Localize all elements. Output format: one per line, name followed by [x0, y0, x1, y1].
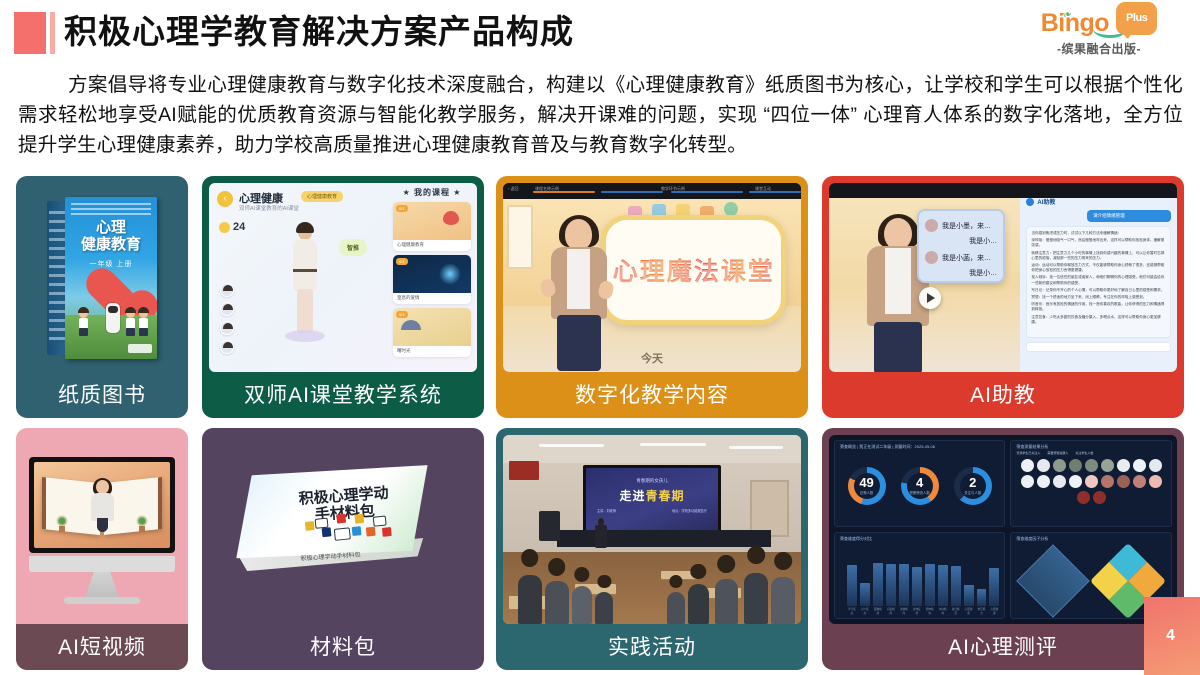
avatar[interactable] [220, 302, 234, 316]
answer-line: 冥想：找一个舒适的地方坐下来，闭上眼睛，专注在你的呼吸上感受到。 [1031, 295, 1166, 300]
book-cover-grade: 一年级 上册 [65, 259, 157, 269]
progress-tag: 0/1 [396, 258, 408, 265]
student-figure [667, 592, 685, 624]
monitor-stand [85, 572, 119, 598]
stage-platform [557, 530, 772, 547]
answer-line: 转移注意力：把注意力几个小时的事情上找到你感兴趣的事情上，可以让你暂时忘掉心里的… [1031, 251, 1166, 261]
student-dot [1053, 459, 1066, 472]
book-cover-title: 心理健康教育 [65, 219, 157, 253]
board-text: 心理魔法课堂 [613, 252, 775, 288]
classroom-photo: 青春期的女孩儿 走进青春期 主讲：刘老师 地点：学校多功能报告厅 [503, 435, 801, 624]
kpi-ring: 4 预警筛查人数 [901, 467, 939, 505]
page-number-corner: 4 [1144, 597, 1200, 675]
student-figure [771, 577, 795, 624]
card-digital-teaching-content[interactable]: ‹ 返回 课程名称示例 教学环节示例 课堂互动 [496, 176, 808, 418]
card-label-ai-assistant: AI助教 [822, 372, 1184, 418]
legend-item: 需要预警提醒人 [1047, 451, 1068, 455]
card-practice-media: 青春期的女孩儿 走进青春期 主讲：刘老师 地点：学校多功能报告厅 [503, 435, 801, 624]
avatar[interactable] [220, 340, 234, 354]
card-ai-short-video[interactable]: AI短视频 [16, 428, 188, 670]
plant-icon [136, 516, 148, 532]
classroom-ceiling [503, 435, 801, 463]
card-ai-assessment[interactable]: 筛查概览 | 我正在测试二年级 | 测量时间：2025-05-06 49 总筛人… [822, 428, 1184, 670]
card-label-short-video: AI短视频 [16, 624, 188, 670]
legend-item: 普通学生已关注人 [1016, 451, 1040, 455]
monitor-chin [29, 556, 175, 572]
monitor [29, 457, 175, 553]
book-cover-topline [71, 203, 151, 216]
screen-subtitle: 青春期的女孩儿 [586, 478, 717, 484]
video-toolbar: ‹ 返回 课程名称示例 教学环节示例 课堂互动 [503, 183, 801, 199]
card-label-assessment: AI心理测评 [822, 624, 1184, 670]
slide-dialogue-panel: 我是小墨，来… 我是小… 我是小菡，来… 我是小… [917, 209, 1005, 283]
my-courses-title: ★ 我的课程 ★ [393, 187, 471, 198]
card-label-digital-content: 数字化教学内容 [496, 372, 808, 418]
legend: 普通学生已关注人 需要预警提醒人 关注学生人数 [1016, 451, 1093, 455]
student-figure [545, 581, 569, 624]
answer-line: 深呼吸：慢慢地吸气一口气，然后慢慢地呼出来，这样可以帮助你放松身体，缓解紧张感。 [1031, 238, 1166, 248]
card-short-video-media [23, 435, 181, 624]
assistant-video-pane: 我是小墨，来… 我是小… 我是小菡，来… 我是小… [829, 183, 1020, 372]
panel-title: 筛查维度因子分析 [1016, 536, 1048, 542]
my-courses-panel: ★ 我的课程 ★ 0/1 心理健康教育 0/1 窒息的爱情 0/ [393, 187, 471, 368]
student-dot [1037, 459, 1050, 472]
avatar-3d-figure [283, 225, 327, 345]
student-dot [1085, 459, 1098, 472]
dialogue-line: 我是小… [969, 268, 997, 278]
answer-line: 注意饮食：少吃太多甜的饮食及糖分摄入，多喝点水，这样可以帮助你身心更加健康。 [1031, 315, 1166, 325]
student-figure [595, 592, 613, 624]
screen-credits: 主讲：刘老师 地点：学校多功能报告厅 [597, 508, 707, 513]
dialogue-line: 我是小… [969, 236, 997, 246]
x-axis-labels: 学习焦虑 对人焦虑 孤独倾向 自责倾向 过敏倾向 身体症状 恐怖倾向 冲动倾向 … [847, 607, 999, 615]
chat-answer: 当你感到焦虑或压力时，试试以下几种方法来缓解情绪： 深呼吸：慢慢地吸气一口气，然… [1026, 226, 1171, 338]
publisher-badge [128, 344, 152, 353]
student-dot [1021, 475, 1034, 488]
course-caption: 曙时光 [393, 346, 471, 357]
answer-line: 当你感到焦虑或压力时，试试以下几种方法来缓解情绪： [1031, 231, 1166, 236]
brand-badge: Plus [1116, 2, 1157, 35]
kpi-value: 49 [859, 476, 873, 489]
dialogue-line: 我是小菡，来… [942, 253, 991, 263]
product-card-grid: 心理健康教育 一年级 上册 纸质图书 [0, 172, 1200, 672]
kpi-ring: 2 关注与人数 [954, 467, 992, 505]
student-dot [1093, 491, 1106, 504]
child-figure [138, 309, 149, 339]
coin-value: 24 [233, 221, 245, 233]
card-label-practice: 实践活动 [496, 624, 808, 670]
video-frame [34, 462, 170, 548]
video-stage: 心理魔法课堂 今天 [503, 199, 801, 372]
play-icon[interactable] [919, 287, 941, 309]
kpi-caption: 关注与人数 [964, 490, 981, 495]
page-title: 积极心理学教育解决方案产品构成 [64, 9, 574, 55]
progress-tag: 0/1 [396, 311, 408, 318]
brand-name-wrap: ❧ Bingo Plus [1041, 6, 1158, 39]
progress-tag: 0/1 [396, 205, 408, 212]
avatar [925, 219, 938, 232]
presenter-figure [87, 480, 117, 536]
coin-counter: 24 [219, 221, 245, 233]
diamond-chart [1016, 544, 1090, 618]
page-number: 4 [1166, 627, 1175, 645]
coin-icon [219, 222, 230, 233]
answer-line: 运动：运动可以帮助你释放压力方式，不仅能够帮助你身心舒畅了很多，还能够帮助你把身… [1031, 263, 1166, 273]
window-decor [507, 205, 533, 269]
student-dot [1069, 475, 1082, 488]
kpi-value: 2 [969, 476, 976, 489]
slide-root: 积极心理学教育解决方案产品构成 ❧ Bingo Plus -缤果融合出版- 方案… [0, 0, 1200, 675]
app-chip: 心理健康教育 [301, 191, 343, 202]
student-dot [1037, 475, 1050, 488]
card-label-paper-book: 纸质图书 [16, 372, 188, 418]
smart-recommend-button[interactable]: 智推 [339, 239, 367, 256]
student-dot [1053, 475, 1066, 488]
course-caption: 心理健康教育 [393, 240, 471, 251]
student-dot [1117, 475, 1130, 488]
plant-icon [56, 516, 68, 532]
presenter-figure [595, 518, 607, 548]
avatar[interactable] [220, 321, 234, 335]
legend-item: 关注学生人数 [1075, 451, 1093, 455]
assessment-dashboard: 筛查概览 | 我正在测试二年级 | 测量时间：2025-05-06 49 总筛人… [829, 435, 1177, 624]
student-dot-grid [1016, 450, 1166, 504]
dashboard-panel-overview: 筛查概览 | 我正在测试二年级 | 测量时间：2025-05-06 49 总筛人… [834, 440, 1005, 527]
assistant-toolbar [829, 183, 1177, 198]
bar-chart [847, 549, 999, 606]
course-item[interactable]: 0/1 窒息的爱情 [393, 255, 471, 304]
kit-box: 积极心理学动手材料包 积极心理学动手材料包 [228, 457, 438, 587]
answer-line: 听音乐：音乐有放松的情绪的作用，找一首你喜欢的歌曲，让你获得的压力和情绪得到释放… [1031, 302, 1166, 312]
student-figure [715, 579, 739, 624]
student-figure [572, 586, 593, 624]
course-item[interactable]: 0/1 曙时光 [393, 308, 471, 357]
wall-banner [509, 461, 539, 480]
material-kit-scene: 积极心理学动手材料包 积极心理学动手材料包 [209, 435, 477, 624]
assistant-panel-title: AI助教 [1037, 197, 1055, 206]
monitor-screen [29, 457, 175, 553]
dialogue-line: 我是小墨，来… [942, 221, 991, 231]
ai-classroom-app: ‹ 心理健康 心理健康教育 双师AI课堂教育的AI课堂 24 [209, 183, 477, 372]
child-figure [125, 309, 136, 339]
student-dot [1085, 475, 1098, 488]
title-accent-block [14, 12, 46, 54]
card-dual-teacher-ai-classroom[interactable]: ‹ 心理健康 心理健康教育 双师AI课堂教育的AI课堂 24 [202, 176, 484, 418]
kpi-value: 4 [916, 476, 923, 489]
title-accent-bar [50, 12, 55, 54]
lesson-video: ‹ 返回 课程名称示例 教学环节示例 课堂互动 [503, 183, 801, 372]
slide-header: 积极心理学教育解决方案产品构成 ❧ Bingo Plus -缤果融合出版- [0, 0, 1200, 62]
student-dot [1117, 459, 1130, 472]
student-dot [1069, 459, 1082, 472]
course-caption: 窒息的爱情 [393, 293, 471, 304]
student-dot [1021, 459, 1034, 472]
child-figure [78, 309, 89, 339]
kpi-caption: 总筛人数 [860, 490, 874, 495]
back-icon[interactable]: ‹ [217, 191, 233, 207]
panel-title: 筛查概览 | 我正在测试二年级 | 测量时间：2025-05-06 [840, 444, 935, 450]
assistant-panel-header: AI助教 [1026, 197, 1171, 206]
brand-subtitle: -缤果融合出版- [1014, 40, 1184, 57]
panel-title: 筛查维度得分对比 [840, 536, 872, 542]
whiteboard: 心理魔法课堂 [601, 215, 786, 326]
dashboard-panel-dimensions: 筛查维度得分对比 [834, 532, 1005, 619]
student-figure [688, 584, 709, 624]
dashboard-panel-students: 筛查测量结果分析 普通学生已关注人 需要预警提醒人 关注学生人数 [1010, 440, 1172, 527]
kpi-caption: 预警筛查人数 [909, 490, 929, 495]
student-figure [518, 575, 542, 624]
card-classroom-media: ‹ 心理健康 心理健康教育 双师AI课堂教育的AI课堂 24 [209, 183, 477, 372]
card-label-material-kit: 材料包 [202, 624, 484, 670]
answer-line: 找人倾诉：找一位信任的朋友或者家人，和他们聊聊你的心理感受，他们可能会给你一些新… [1031, 275, 1166, 285]
video-subtitle: 今天 [503, 350, 801, 366]
card-material-kit-media: 积极心理学动手材料包 积极心理学动手材料包 [209, 435, 477, 624]
student-dot [1149, 459, 1162, 472]
avatar-list [220, 283, 234, 354]
student-dot [1133, 475, 1146, 488]
student-dot [1133, 459, 1146, 472]
assistant-chat-pane: AI助教 请介绍情绪管理 当你感到焦虑或压力时，试试以下几种方法来缓解情绪： 深… [1020, 183, 1177, 372]
student-figure [744, 573, 768, 624]
robot-icon [1026, 198, 1034, 206]
avatar [925, 251, 938, 264]
kpi-ring: 49 总筛人数 [848, 467, 886, 505]
card-paper-book-media: 心理健康教育 一年级 上册 [23, 183, 181, 372]
screen-title: 走进青春期 [586, 487, 717, 504]
kpi-rings: 49 总筛人数 4 预警筛查人数 2 关注与人数 [840, 450, 999, 521]
ai-assistant-screen: 我是小墨，来… 我是小… 我是小菡，来… 我是小… AI助教 请介绍情绪管理 [829, 183, 1177, 372]
chat-input[interactable] [1026, 342, 1171, 352]
student-dot [1101, 475, 1114, 488]
course-list: 0/1 心理健康教育 0/1 窒息的爱情 0/1 曙时光 [393, 202, 471, 357]
card-assessment-media: 筛查概览 | 我正在测试二年级 | 测量时间：2025-05-06 49 总筛人… [829, 435, 1177, 624]
intro-paragraph: 方案倡导将专业心理健康教育与数字化技术深度融合，构建以《心理健康教育》纸质图书为… [18, 70, 1183, 160]
card-assistant-media: 我是小墨，来… 我是小… 我是小菡，来… 我是小… AI助教 请介绍情绪管理 [829, 183, 1177, 372]
chat-sent-message: 请介绍情绪管理 [1087, 210, 1171, 222]
app-subtitle: 双师AI课堂教育的AI课堂 [239, 204, 299, 212]
course-item[interactable]: 0/1 心理健康教育 [393, 202, 471, 251]
book-scene: 心理健康教育 一年级 上册 [23, 183, 181, 372]
student-dot [1149, 475, 1162, 488]
brand-logo: ❧ Bingo Plus -缤果融合出版- [1014, 6, 1184, 57]
card-label-classroom: 双师AI课堂教学系统 [202, 372, 484, 418]
book-cover: 心理健康教育 一年级 上册 [65, 197, 157, 359]
card-practice-activity[interactable]: 青春期的女孩儿 走进青春期 主讲：刘老师 地点：学校多功能报告厅 [496, 428, 808, 670]
card-video-media: ‹ 返回 课程名称示例 教学环节示例 课堂互动 [503, 183, 801, 372]
answer-line: 写日记：记录你不开心的个人心情，可以帮助你更好地了解自己心里的感受和需求。 [1031, 288, 1166, 293]
student-dot [1101, 459, 1114, 472]
monitor-base [64, 597, 140, 604]
short-video-scene [23, 435, 181, 624]
panel-title: 筛查测量结果分析 [1016, 444, 1048, 450]
book-stack: 心理健康教育 一年级 上册 [47, 197, 157, 359]
avatar[interactable] [220, 283, 234, 297]
speaker-box [539, 511, 560, 541]
card-material-kit[interactable]: 积极心理学动手材料包 积极心理学动手材料包 [202, 428, 484, 670]
robot-figure [106, 303, 120, 333]
card-paper-book[interactable]: 心理健康教育 一年级 上册 纸质图书 [16, 176, 188, 418]
teacher-figure [539, 219, 619, 369]
student-dot [1077, 491, 1090, 504]
card-ai-teaching-assistant[interactable]: 我是小墨，来… 我是小… 我是小菡，来… 我是小… AI助教 请介绍情绪管理 [822, 176, 1184, 418]
